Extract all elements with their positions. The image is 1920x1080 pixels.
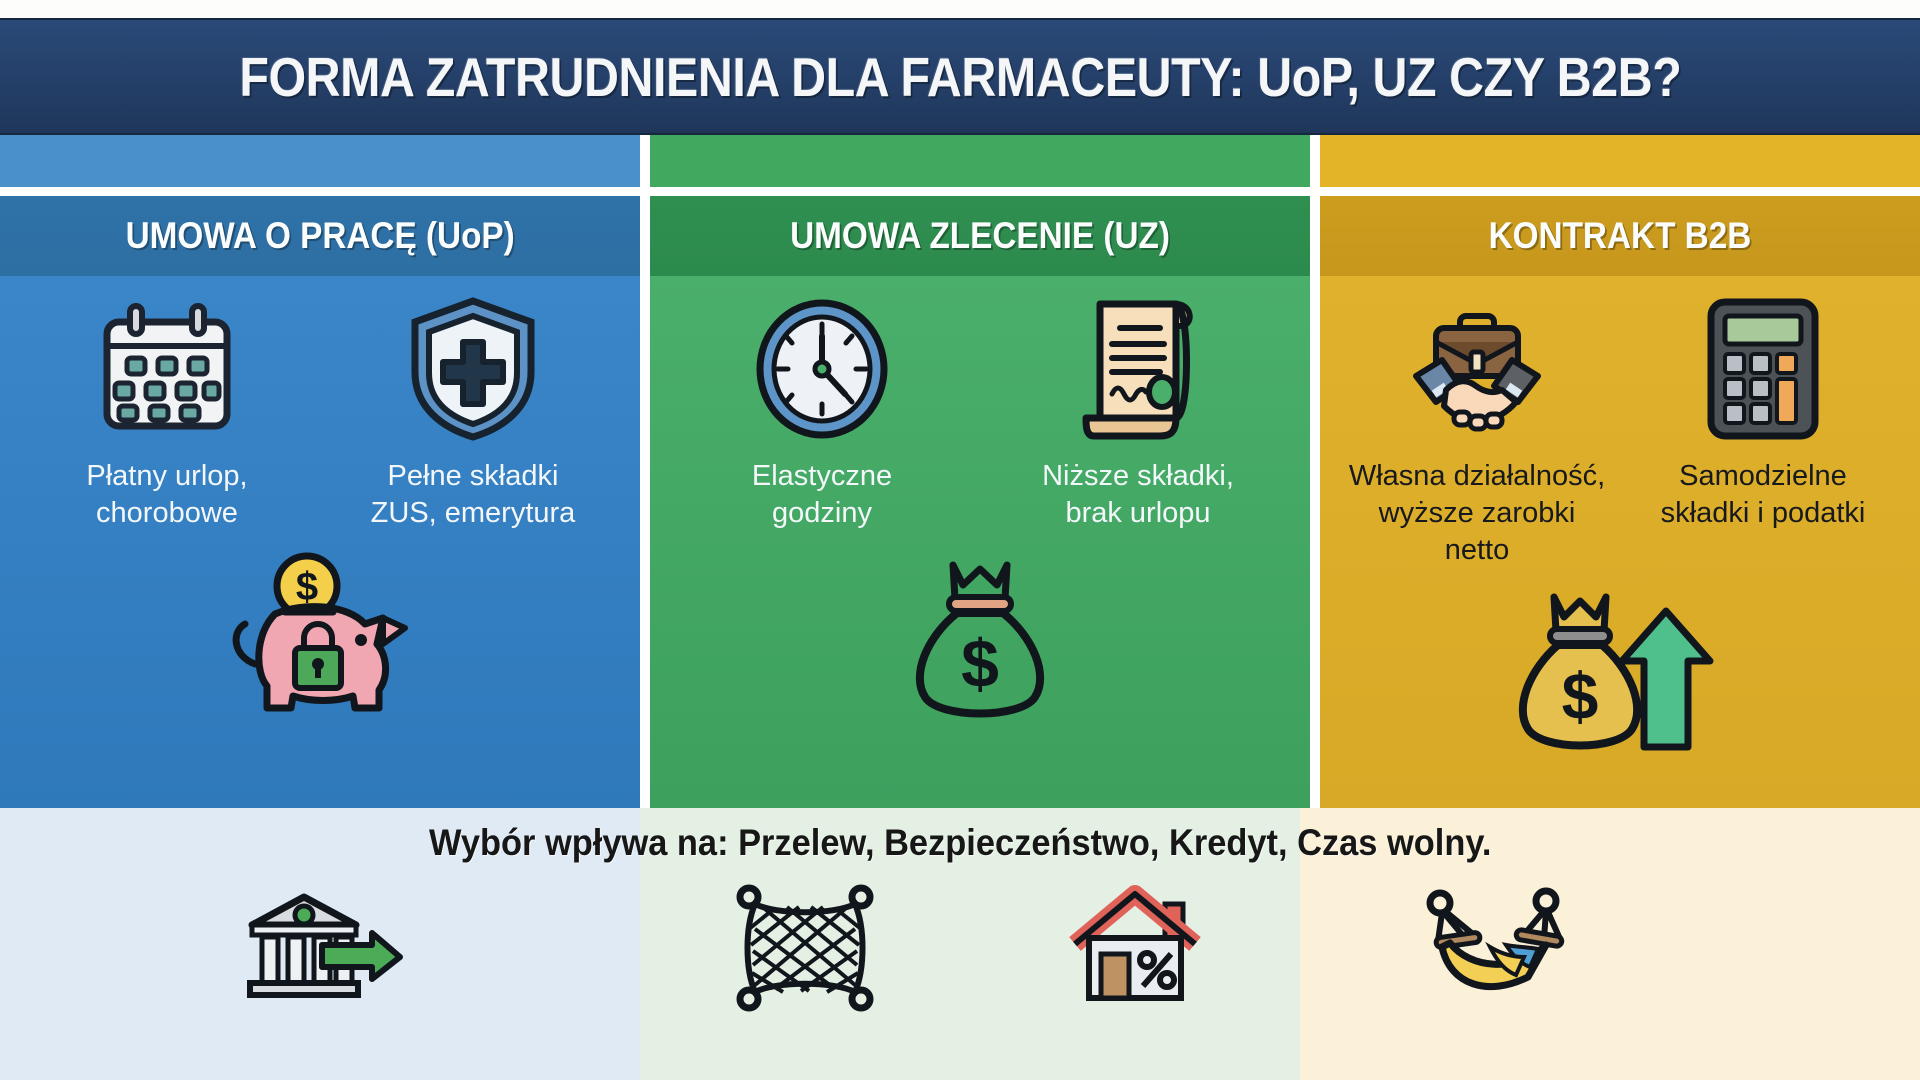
accent-strip-uop <box>0 135 640 187</box>
column-header-label-uz: UMOWA ZLECENIE (UZ) <box>790 215 1170 257</box>
feature-label-uz-flexible-hours: Elastyczne godziny <box>752 458 892 532</box>
column-body-uop: Płatny urlop, chorobowe <box>0 276 640 808</box>
column-header-b2b: KONTRAKT B2B <box>1320 196 1920 276</box>
footer-icon-slot-transfer <box>0 889 640 1007</box>
feature-label-line1: Płatny urlop, <box>86 460 247 492</box>
feature-uop-vacation: Płatny urlop, chorobowe <box>26 294 308 532</box>
strip-gap-uz <box>650 187 1310 196</box>
feature-label-line2: wyższe zarobki netto <box>1379 497 1576 566</box>
feature-label-uop-social-security: Pełne składki ZUS, emerytura <box>371 458 576 532</box>
feature-b2b-own-taxes: Samodzielne składki i podatki <box>1631 294 1894 532</box>
feature-label-line2: brak urlopu <box>1065 497 1210 529</box>
svg-text:$: $ <box>296 565 318 609</box>
column-header-uop: UMOWA O PRACĘ (UoP) <box>0 196 640 276</box>
money-bag-icon: $ <box>865 548 1095 733</box>
piggy-bank-lock-icon: $ <box>205 548 435 733</box>
strip-gap-uop <box>0 187 640 196</box>
accent-strip-uz <box>650 135 1310 187</box>
column-header-label-uop: UMOWA O PRACĘ (UoP) <box>125 215 514 257</box>
footer-icon-slot-credit <box>970 886 1300 1010</box>
calendar-icon <box>92 294 242 444</box>
feature-b2b-own-business: Własna działalność, wyższe zarobki netto <box>1345 294 1608 569</box>
svg-text:$: $ <box>1562 659 1599 733</box>
feature-uop-social-security: Pełne składki ZUS, emerytura <box>332 294 614 532</box>
feature-label-line1: Pełne składki <box>388 460 559 492</box>
feature-row-uop: Płatny urlop, chorobowe <box>0 294 640 532</box>
strip-gap-b2b <box>1320 187 1920 196</box>
column-body-uz: Elastyczne godziny <box>650 276 1310 808</box>
footer-content: Wybór wpływa na: Przelew, Bezpieczeństwo… <box>0 808 1920 1080</box>
footer-icon-row <box>0 878 1920 1018</box>
footer-note: Wybór wpływa na: Przelew, Bezpieczeństwo… <box>429 822 1492 864</box>
bank-transfer-icon <box>236 889 404 1007</box>
hammock-icon <box>1420 889 1610 1007</box>
contract-scroll-icon <box>1063 294 1213 444</box>
column-header-uz: UMOWA ZLECENIE (UZ) <box>650 196 1310 276</box>
money-bag-up-arrow-icon: $ <box>1505 585 1735 770</box>
feature-row-uz: Elastyczne godziny <box>650 294 1310 532</box>
feature-label-line2: ZUS, emerytura <box>371 497 576 529</box>
accent-strip-b2b <box>1320 135 1920 187</box>
feature-label-line1: Własna działalność, <box>1349 460 1605 492</box>
column-uz: UMOWA ZLECENIE (UZ) <box>650 135 1310 808</box>
column-body-b2b: Własna działalność, wyższe zarobki netto <box>1320 276 1920 808</box>
comparison-columns: UMOWA O PRACĘ (UoP) <box>0 135 1920 808</box>
svg-text:$: $ <box>961 626 999 702</box>
feature-label-b2b-own-business: Własna działalność, wyższe zarobki netto <box>1345 458 1608 569</box>
feature-label-uz-lower-contributions: Niższe składki, brak urlopu <box>1042 458 1234 532</box>
feature-uz-lower-contributions: Niższe składki, brak urlopu <box>993 294 1284 532</box>
feature-label-line2: składki i podatki <box>1661 497 1866 529</box>
column-uop: UMOWA O PRACĘ (UoP) <box>0 135 640 808</box>
footer-section: Wybór wpływa na: Przelew, Bezpieczeństwo… <box>0 808 1920 1080</box>
infographic-root: FORMA ZATRUDNIENIA DLA FARMACEUTY: UoP, … <box>0 0 1920 1080</box>
page-title: FORMA ZATRUDNIENIA DLA FARMACEUTY: UoP, … <box>239 45 1681 109</box>
feature-label-line2: godziny <box>772 497 872 529</box>
house-percent-icon <box>1067 886 1203 1010</box>
column-header-label-b2b: KONTRAKT B2B <box>1489 215 1752 257</box>
feature-label-line1: Niższe składki, <box>1042 460 1234 492</box>
safety-net-icon <box>735 885 875 1011</box>
feature-uz-flexible-hours: Elastyczne godziny <box>677 294 968 532</box>
feature-label-b2b-own-taxes: Samodzielne składki i podatki <box>1661 458 1866 532</box>
feature-label-line2: chorobowe <box>96 497 238 529</box>
feature-label-line1: Samodzielne <box>1679 460 1847 492</box>
footer-icon-slot-security <box>640 885 970 1011</box>
clock-icon <box>747 294 897 444</box>
shield-cross-icon <box>398 294 548 444</box>
feature-label-uop-vacation: Płatny urlop, chorobowe <box>86 458 247 532</box>
calculator-icon <box>1688 294 1838 444</box>
feature-label-line1: Elastyczne <box>752 460 892 492</box>
title-bar: FORMA ZATRUDNIENIA DLA FARMACEUTY: UoP, … <box>0 18 1920 135</box>
feature-row-b2b: Własna działalność, wyższe zarobki netto <box>1320 294 1920 569</box>
handshake-briefcase-icon <box>1402 294 1552 444</box>
footer-icon-slot-free-time <box>1300 889 1920 1007</box>
column-b2b: KONTRAKT B2B <box>1320 135 1920 808</box>
